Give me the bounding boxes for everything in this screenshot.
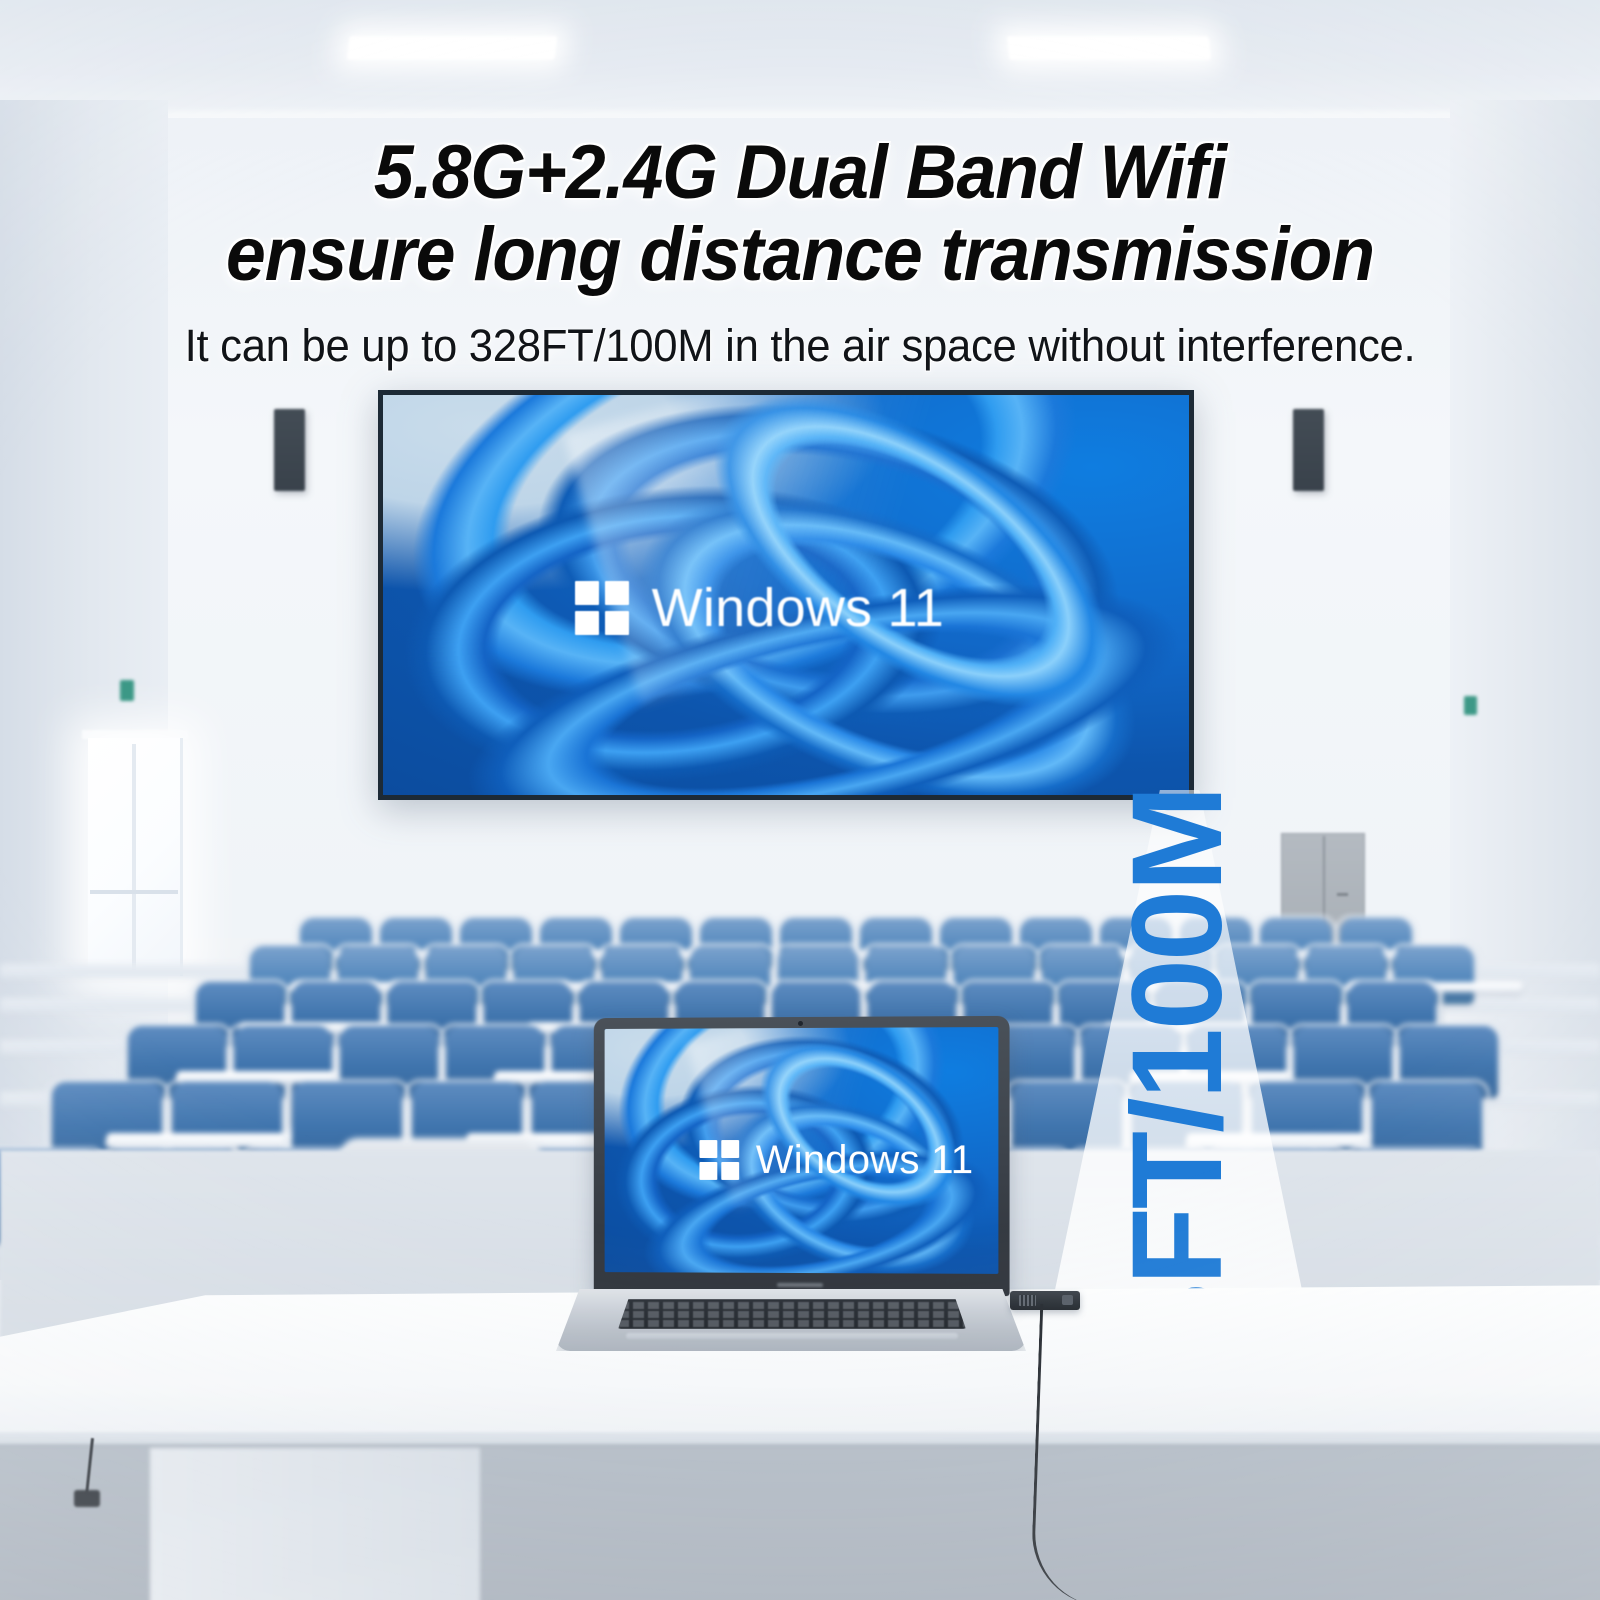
keyboard-row	[618, 1320, 966, 1327]
desk-pedestal	[150, 1448, 480, 1600]
laptop-screen[interactable]: Windows 11	[605, 1027, 999, 1274]
windows-brand-lockup: Windows 11	[699, 1140, 973, 1180]
windows-brand-lockup: Windows 11	[575, 581, 944, 635]
headline: 5.8G+2.4G Dual Band Wifi ensure long dis…	[0, 132, 1600, 296]
laptop[interactable]: Windows 11	[556, 1017, 1026, 1377]
webcam-icon	[798, 1021, 803, 1026]
keyboard-row	[618, 1302, 966, 1309]
adapter-label	[1019, 1295, 1036, 1306]
floor-power-plug	[74, 1490, 100, 1507]
windows-logo-icon	[575, 581, 629, 635]
usb-wifi-adapter[interactable]	[1010, 1291, 1080, 1310]
laptop-lid: Windows 11	[594, 1016, 1010, 1296]
subheadline: It can be up to 328FT/100M in the air sp…	[24, 320, 1576, 372]
keyboard-row	[618, 1311, 966, 1318]
headline-line-2: ensure long distance transmission	[48, 214, 1552, 296]
laptop-palmrest-edge	[626, 1333, 958, 1339]
laptop-keyboard[interactable]	[618, 1299, 966, 1329]
headline-line-1: 5.8G+2.4G Dual Band Wifi	[48, 132, 1552, 214]
windows-version-label: Windows 11	[652, 581, 944, 635]
wall-display[interactable]: Windows 11	[378, 390, 1194, 800]
wall-display-screen: Windows 11	[383, 395, 1189, 795]
windows-logo-icon	[699, 1140, 739, 1180]
windows-version-label: Windows 11	[756, 1140, 973, 1180]
product-marketing-image: Windows 11 328FT/100M	[0, 0, 1600, 1600]
